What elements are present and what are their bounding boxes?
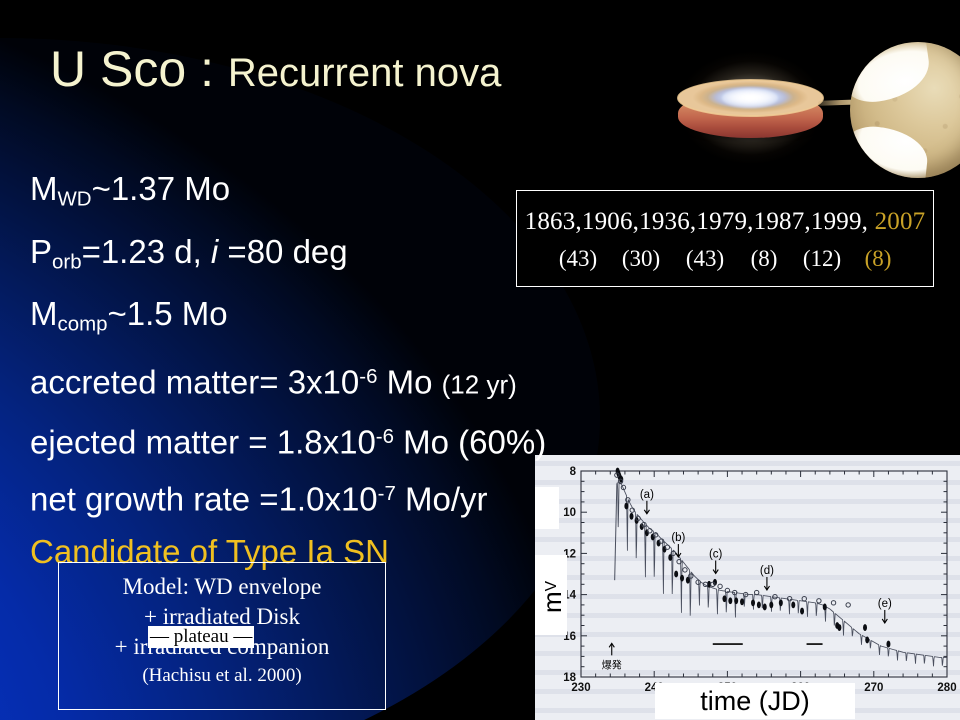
svg-text:270: 270 — [864, 682, 883, 694]
plateau-bracket-right: — — [229, 626, 253, 647]
binary-system-illustration — [660, 28, 960, 188]
interval-3: (43) — [673, 247, 737, 270]
companion-star — [850, 42, 960, 178]
param-accreted-matter: accreted matter= 3x10-6 Mo (12 yr) — [30, 351, 546, 411]
eruption-intervals-row: (43)(30)(43)(8)(12)(8) — [517, 247, 933, 270]
param-net-growth-rate: net growth rate =1.0x10-7 Mo/yr — [30, 468, 546, 526]
svg-text:18: 18 — [563, 672, 576, 684]
param-p-orb: Porb=1.23 d, i =80 deg — [30, 226, 546, 289]
plateau-annotation: — plateau — — [148, 626, 254, 648]
eruption-history-box: 1863,1906,1936,1979,1987,1999, 2007 (43)… — [516, 190, 934, 287]
svg-text:(a): (a) — [640, 489, 654, 501]
svg-text:(b): (b) — [671, 532, 685, 544]
eruption-year-latest: 2007 — [868, 208, 925, 235]
disk-hot-center — [722, 88, 778, 108]
interval-5: (12) — [791, 247, 853, 270]
title-object-name: U Sco — [50, 41, 186, 97]
growth-unit: Mo/yr — [396, 481, 488, 518]
interval-4: (8) — [737, 247, 791, 270]
p-orb-symbol: P — [30, 233, 52, 270]
svg-text:(c): (c) — [709, 549, 723, 561]
plateau-bracket-left: — — [150, 626, 174, 647]
parameter-list: MWD~1.37 Mo Porb=1.23 d, i =80 deg Mcomp… — [30, 163, 546, 578]
light-curve-plot: 23024025026027028081012141618(a)(b)(c)(d… — [535, 455, 960, 720]
x-axis-label: time (JD) — [655, 683, 855, 719]
growth-label: net growth rate =1.0x10 — [30, 481, 378, 518]
m-comp-subscript: comp — [58, 313, 108, 336]
title-separator: : — [186, 41, 228, 97]
ejected-unit: Mo (60%) — [394, 423, 546, 460]
accreted-label: accreted matter= 3x10 — [30, 364, 359, 401]
eruption-years-past: 1863,1906,1936,1979,1987,1999, — [525, 208, 869, 235]
svg-text:10: 10 — [563, 507, 576, 519]
growth-exponent: -7 — [378, 482, 396, 505]
ejected-label: ejected matter = 1.8x10 — [30, 423, 376, 460]
light-curve-figure: 23024025026027028081012141618(a)(b)(c)(d… — [535, 455, 960, 720]
svg-text:(d): (d) — [760, 565, 774, 577]
accreted-timescale: (12 yr) — [442, 370, 517, 400]
m-wd-value: ~1.37 Mo — [92, 170, 231, 207]
eruption-years-row: 1863,1906,1936,1979,1987,1999, 2007 — [517, 209, 933, 234]
svg-text:爆発: 爆発 — [602, 658, 622, 671]
slide-title: U Sco : Recurrent nova — [50, 40, 501, 98]
y-axis-label: mV — [535, 584, 590, 610]
m-wd-subscript: WD — [58, 188, 92, 211]
m-wd-symbol: M — [30, 170, 58, 207]
accreted-exponent: -6 — [359, 365, 377, 388]
svg-text:280: 280 — [937, 682, 956, 694]
title-subtitle: Recurrent nova — [228, 51, 501, 95]
param-m-comp: Mcomp~1.5 Mo — [30, 288, 546, 351]
y-axis-label-base: m — [537, 591, 568, 613]
svg-text:8: 8 — [570, 466, 577, 478]
interval-2: (30) — [609, 247, 673, 270]
interval-1: (43) — [547, 247, 609, 270]
inclination-value: =80 deg — [218, 233, 347, 270]
p-orb-value: =1.23 d, — [82, 233, 211, 270]
y-axis-label-subscript: V — [543, 581, 561, 591]
m-comp-symbol: M — [30, 295, 58, 332]
plateau-text: plateau — [174, 626, 229, 647]
accretion-disk — [678, 80, 823, 142]
interval-6: (8) — [853, 247, 903, 270]
model-line-1: Model: WD envelope — [59, 572, 385, 602]
accreted-unit: Mo — [377, 364, 441, 401]
slide-canvas: U Sco : Recurrent nova MWD~1.37 Mo Porb=… — [0, 0, 960, 720]
model-reference: (Hachisu et al. 2000) — [59, 662, 385, 689]
param-m-wd: MWD~1.37 Mo — [30, 163, 546, 226]
p-orb-subscript: orb — [52, 250, 82, 273]
ejected-exponent: -6 — [376, 425, 394, 448]
svg-text:(e): (e) — [878, 598, 892, 610]
m-comp-value: ~1.5 Mo — [107, 295, 227, 332]
param-ejected-matter: ejected matter = 1.8x10-6 Mo (60%) — [30, 411, 546, 469]
